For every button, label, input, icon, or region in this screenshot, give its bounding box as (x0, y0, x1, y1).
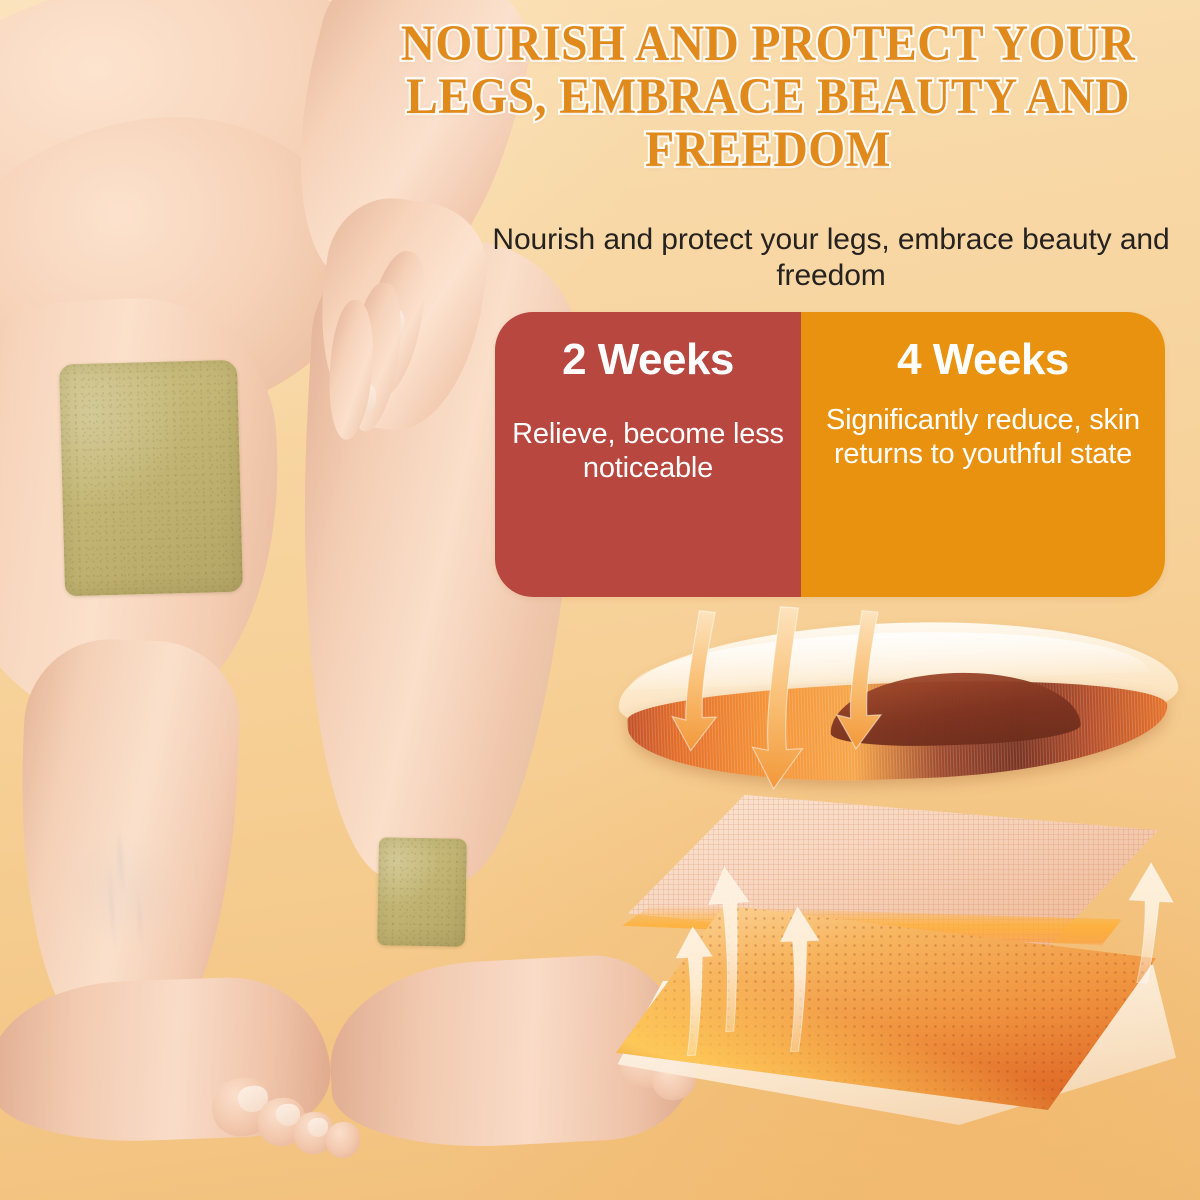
breathability-arrows-up (600, 855, 1200, 1105)
arrow-down-3 (834, 609, 890, 750)
arrow-up-4 (1125, 862, 1175, 984)
panel-body-2-weeks: Relieve, become less noticeable (507, 418, 789, 486)
panel-title-2-weeks: 2 Weeks (562, 338, 734, 382)
ankle-patch (377, 837, 467, 947)
layered-patch-illustration (600, 605, 1200, 1105)
arrow-up-2 (675, 926, 718, 1056)
comparison-panel-2-weeks: 2 Weeks Relieve, become less noticeable (495, 312, 801, 597)
front-toenail-3 (308, 1118, 328, 1137)
subtitle: Nourish and protect your legs, embrace b… (470, 222, 1192, 295)
arrow-down-2 (750, 606, 813, 791)
panel-body-4-weeks: Significantly reduce, skin returns to yo… (819, 404, 1147, 472)
model-legs-photo (0, 0, 640, 1200)
panel-title-4-weeks: 4 Weeks (897, 338, 1069, 382)
arrow-up-3 (779, 906, 822, 1051)
arrow-up-1 (706, 866, 757, 1032)
arrow-down-1 (669, 609, 727, 753)
front-toe-4 (326, 1122, 360, 1158)
advertisement-banner: NOURISH AND PROTECT YOUR LEGS, EMBRACE B… (0, 0, 1200, 1200)
headline: NOURISH AND PROTECT YOUR LEGS, EMBRACE B… (370, 18, 1166, 177)
comparison-panel-4-weeks: 4 Weeks Significantly reduce, skin retur… (801, 312, 1165, 597)
comparison-card: 2 Weeks Relieve, become less noticeable … (495, 312, 1165, 597)
calf-patch (59, 360, 243, 597)
